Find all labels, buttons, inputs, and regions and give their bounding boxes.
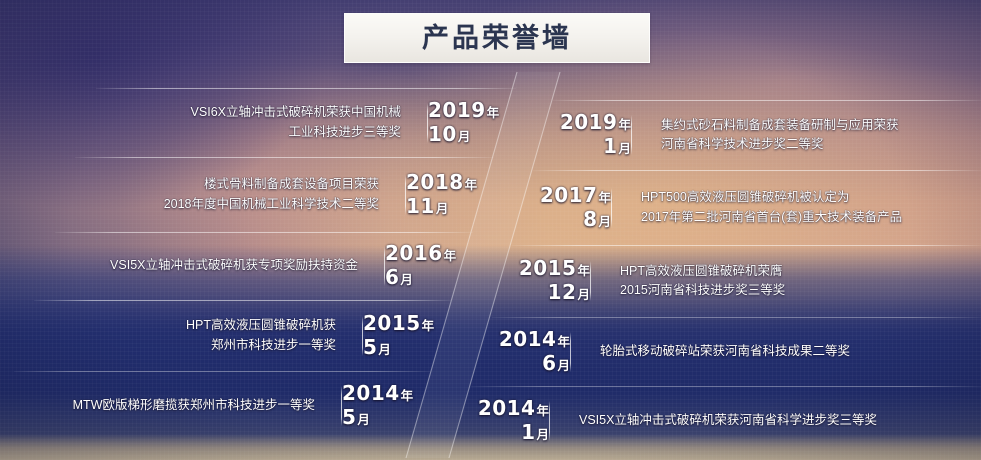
entry-month-unit: 月: [400, 272, 413, 287]
entry-month-unit: 月: [536, 427, 549, 442]
entry-description: 楼式骨料制备成套设备项目荣获 2018年度中国机械工业科学技术二等奖: [164, 175, 392, 214]
timeline-entry-left-1[interactable]: VSI6X立轴冲击式破碎机荣获中国机械 工业科技进步三等奖 2019年 10月: [96, 88, 516, 157]
timeline-entry-left-5[interactable]: MTW欧版梯形磨揽获郑州市科技进步一等奖 2014年 5月: [14, 371, 430, 441]
entry-description: HPT高效液压圆锥破碎机荣膺 2015河南省科技进步奖三等奖: [604, 262, 785, 301]
timeline-entry-right-5[interactable]: 2014年 1月 VSI5X立轴冲击式破碎机荣获河南省科学进步奖三等奖: [471, 386, 981, 456]
entry-month-unit: 月: [557, 358, 570, 373]
entry-year-unit: 年: [536, 403, 549, 418]
entry-year-unit: 年: [598, 190, 611, 205]
entry-year: 2018: [406, 170, 464, 194]
entry-description: HPT高效液压圆锥破碎机获 郑州市科技进步一等奖: [186, 316, 349, 355]
entry-year-unit: 年: [444, 248, 457, 263]
entry-month-unit: 月: [577, 287, 590, 302]
entry-year: 2015: [363, 311, 421, 335]
entry-month: 1: [603, 134, 617, 158]
entry-date: 2014年 5月: [328, 382, 430, 429]
entry-month: 12: [548, 280, 577, 304]
entry-month: 6: [542, 351, 556, 375]
entry-month: 11: [406, 194, 435, 218]
timeline-entry-right-3[interactable]: 2015年 12月 HPT高效液压圆锥破碎机荣膺 2015河南省科技进步奖三等奖: [512, 245, 981, 317]
entry-separator-line: [384, 246, 385, 286]
entry-separator-line: [611, 188, 612, 228]
entry-month-unit: 月: [458, 129, 471, 144]
entry-description: 轮胎式移动破碎站荣获河南省科技成果二等奖: [584, 342, 850, 361]
page-title: 产品荣誉墙: [422, 25, 572, 52]
entry-month: 8: [583, 207, 597, 231]
entry-month: 5: [342, 405, 356, 429]
entry-year: 2016: [385, 241, 443, 265]
entry-separator-line: [570, 332, 571, 372]
entry-description: MTW欧版梯形磨揽获郑州市科技进步一等奖: [73, 396, 328, 415]
entry-year-unit: 年: [487, 105, 500, 120]
entry-year-unit: 年: [465, 177, 478, 192]
entry-description: HPT500高效液压圆锥破碎机被认定为 2017年第二批河南省首台(套)重大技术…: [625, 188, 902, 227]
entry-date: 2015年 5月: [349, 312, 451, 359]
entry-month-unit: 月: [357, 412, 370, 427]
entry-year: 2019: [428, 98, 486, 122]
entry-year-unit: 年: [401, 388, 414, 403]
entry-year: 2015: [519, 256, 577, 280]
entry-month: 10: [428, 122, 457, 146]
entry-year-unit: 年: [577, 263, 590, 278]
entry-month-unit: 月: [378, 342, 391, 357]
entry-year-unit: 年: [422, 318, 435, 333]
entry-year: 2014: [342, 381, 400, 405]
entry-date: 2019年 10月: [414, 99, 516, 146]
entry-description: VSI6X立轴冲击式破碎机荣获中国机械 工业科技进步三等奖: [191, 103, 414, 142]
entry-separator-line: [362, 316, 363, 356]
entry-separator-line: [590, 261, 591, 301]
entry-date: 2018年 11月: [392, 171, 494, 218]
entry-month: 5: [363, 335, 377, 359]
entry-description: VSI5X立轴冲击式破碎机荣获河南省科学进步奖三等奖: [563, 411, 877, 430]
timeline-entry-right-2[interactable]: 2017年 8月 HPT500高效液压圆锥破碎机被认定为 2017年第二批河南省…: [533, 170, 981, 245]
entry-year: 2019: [560, 110, 618, 134]
timeline-entry-left-2[interactable]: 楼式骨料制备成套设备项目荣获 2018年度中国机械工业科学技术二等奖 2018年…: [75, 157, 494, 232]
entry-year-unit: 年: [618, 117, 631, 132]
entry-separator-line: [631, 115, 632, 155]
entry-year: 2014: [499, 327, 557, 351]
entry-date: 2016年 6月: [371, 242, 473, 289]
timeline-entry-left-3[interactable]: VSI5X立轴冲击式破碎机获专项奖励扶持资金 2016年 6月: [55, 232, 473, 300]
entry-separator-line: [341, 386, 342, 426]
entry-separator-line: [427, 103, 428, 143]
honor-wall-infographic: 产品荣誉墙 VSI6X立轴冲击式破碎机荣获中国机械 工业科技进步三等奖 2019…: [0, 0, 981, 460]
entry-separator-line: [549, 401, 550, 441]
entry-separator-line: [405, 175, 406, 215]
entry-year: 2017: [540, 183, 598, 207]
entry-month: 1: [521, 420, 535, 444]
timeline-entry-right-4[interactable]: 2014年 6月 轮胎式移动破碎站荣获河南省科技成果二等奖: [492, 317, 981, 386]
entry-month-unit: 月: [618, 141, 631, 156]
entry-description: 集约式砂石料制备成套装备研制与应用荣获 河南省科学技术进步奖二等奖: [645, 116, 899, 155]
timeline-entry-right-1[interactable]: 2019年 1月 集约式砂石料制备成套装备研制与应用荣获 河南省科学技术进步奖二…: [553, 100, 981, 170]
entry-description: VSI5X立轴冲击式破碎机获专项奖励扶持资金: [110, 256, 371, 275]
entry-year: 2014: [478, 396, 536, 420]
page-title-panel: 产品荣誉墙: [344, 13, 650, 63]
entry-year-unit: 年: [557, 334, 570, 349]
timeline-entry-left-4[interactable]: HPT高效液压圆锥破碎机获 郑州市科技进步一等奖 2015年 5月: [34, 300, 451, 371]
entry-month: 6: [385, 265, 399, 289]
entry-month-unit: 月: [436, 201, 449, 216]
entry-month-unit: 月: [598, 214, 611, 229]
